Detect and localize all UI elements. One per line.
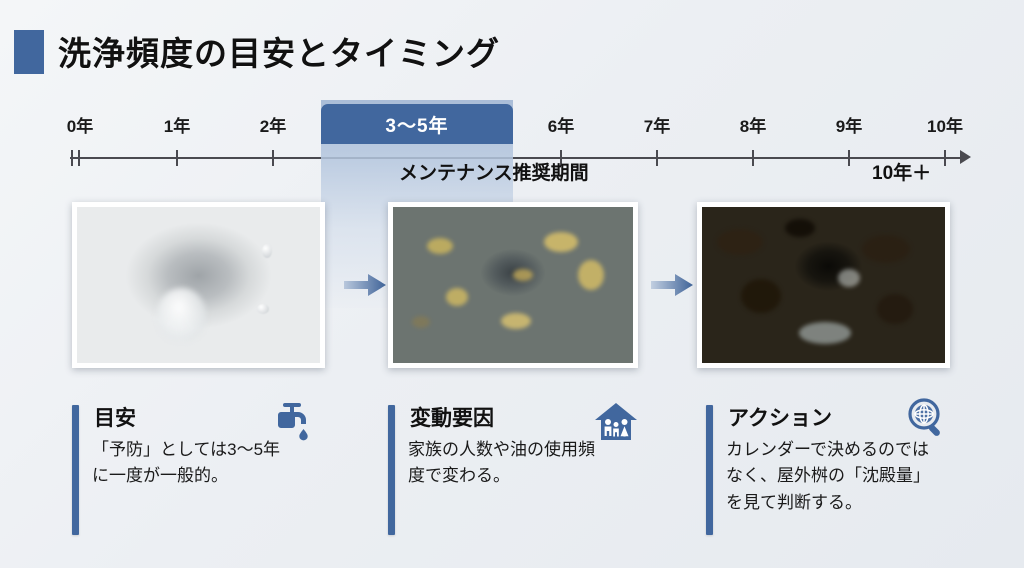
timeline-tick-label-6: 6年 xyxy=(548,112,574,137)
card-heading: アクション xyxy=(728,402,832,432)
grease-deposit xyxy=(446,288,468,306)
grease-deposit xyxy=(544,232,578,252)
scale-buildup xyxy=(717,229,763,255)
pipe-render-clean xyxy=(77,207,320,363)
timeline-axis-start-cap xyxy=(71,150,73,166)
card-body-text: カレンダーで決めるのでは なく、屋外桝の「沈殿量」 を見て判断する。 xyxy=(726,437,994,516)
card-accent-bar xyxy=(388,405,395,535)
info-card-action: アクション カレンダーで決めるのでは なく、屋外桝の「沈殿量」 を見て判断する。 xyxy=(700,400,1010,540)
timeline-tick xyxy=(78,150,80,166)
timeline-end-label: 10年＋ xyxy=(872,158,931,185)
scale-buildup xyxy=(862,235,910,263)
card-accent-bar xyxy=(706,405,713,535)
house-family-icon xyxy=(594,400,638,444)
card-accent-bar xyxy=(72,405,79,535)
pipe-photo-severe-image xyxy=(702,207,945,363)
magnifier-inspect-icon xyxy=(905,396,949,440)
recommended-window-caption: メンテナンス推奨期間 xyxy=(321,158,841,185)
timeline-tick-label-2: 2年 xyxy=(260,112,286,137)
slide-canvas: 洗浄頻度の目安とタイミング 0年 1年 2年 6年 7年 8年 9年 10年 3… xyxy=(0,0,1024,568)
grease-deposit xyxy=(412,316,430,328)
info-card-variables: 変動要因 家族の人数や油の使用頻 度で変わる。 xyxy=(382,400,682,540)
grease-deposit xyxy=(578,260,604,290)
timeline-tick-label-8: 8年 xyxy=(740,112,766,137)
scale-buildup xyxy=(877,294,913,324)
pipe-render-severe xyxy=(702,207,945,363)
timeline-tick-label-0: 0年 xyxy=(67,112,93,137)
pipe-photo-clean xyxy=(72,202,325,368)
progress-arrow-2 xyxy=(651,272,693,298)
recommended-window-badge: 3〜5年 xyxy=(321,104,513,144)
card-body-text: 「予防」としては3〜5年 に一度が一般的。 xyxy=(92,437,344,490)
card-heading: 変動要因 xyxy=(410,402,494,432)
pipe-render-moderate xyxy=(393,207,633,363)
page-title: 洗浄頻度の目安とタイミング xyxy=(58,27,500,75)
timeline-tick xyxy=(176,150,178,166)
pipe-photo-clean-image xyxy=(77,207,320,363)
pipe-photo-moderate-image xyxy=(393,207,633,363)
arrow-right-icon xyxy=(960,150,971,164)
timeline-tick xyxy=(272,150,274,166)
info-card-guideline: 目安 「予防」としては3〜5年 に一度が一般的。 xyxy=(66,400,366,540)
timeline-tick-label-9: 9年 xyxy=(836,112,862,137)
highlight-speck xyxy=(257,304,269,314)
timeline-tick xyxy=(944,150,946,166)
highlight-speck xyxy=(262,244,272,258)
faucet-drop-icon xyxy=(271,398,315,442)
timeline-tick xyxy=(848,150,850,166)
card-heading: 目安 xyxy=(94,402,136,432)
scale-buildup xyxy=(838,269,860,287)
grease-deposit xyxy=(427,238,453,254)
progress-arrow-1 xyxy=(344,272,386,298)
pipe-photo-moderate xyxy=(388,202,638,368)
scale-buildup xyxy=(799,322,851,344)
timeline-tick-label-1: 1年 xyxy=(164,112,190,137)
title-accent-block xyxy=(14,30,44,74)
card-body-text: 家族の人数や油の使用頻 度で変わる。 xyxy=(408,437,660,490)
grease-deposit xyxy=(513,269,533,281)
timeline-tick-label-10: 10年 xyxy=(927,112,963,137)
grease-deposit xyxy=(501,313,531,329)
pipe-photo-severe xyxy=(697,202,950,368)
timeline-tick-label-7: 7年 xyxy=(644,112,670,137)
scale-buildup xyxy=(785,219,815,237)
scale-buildup xyxy=(741,279,781,313)
